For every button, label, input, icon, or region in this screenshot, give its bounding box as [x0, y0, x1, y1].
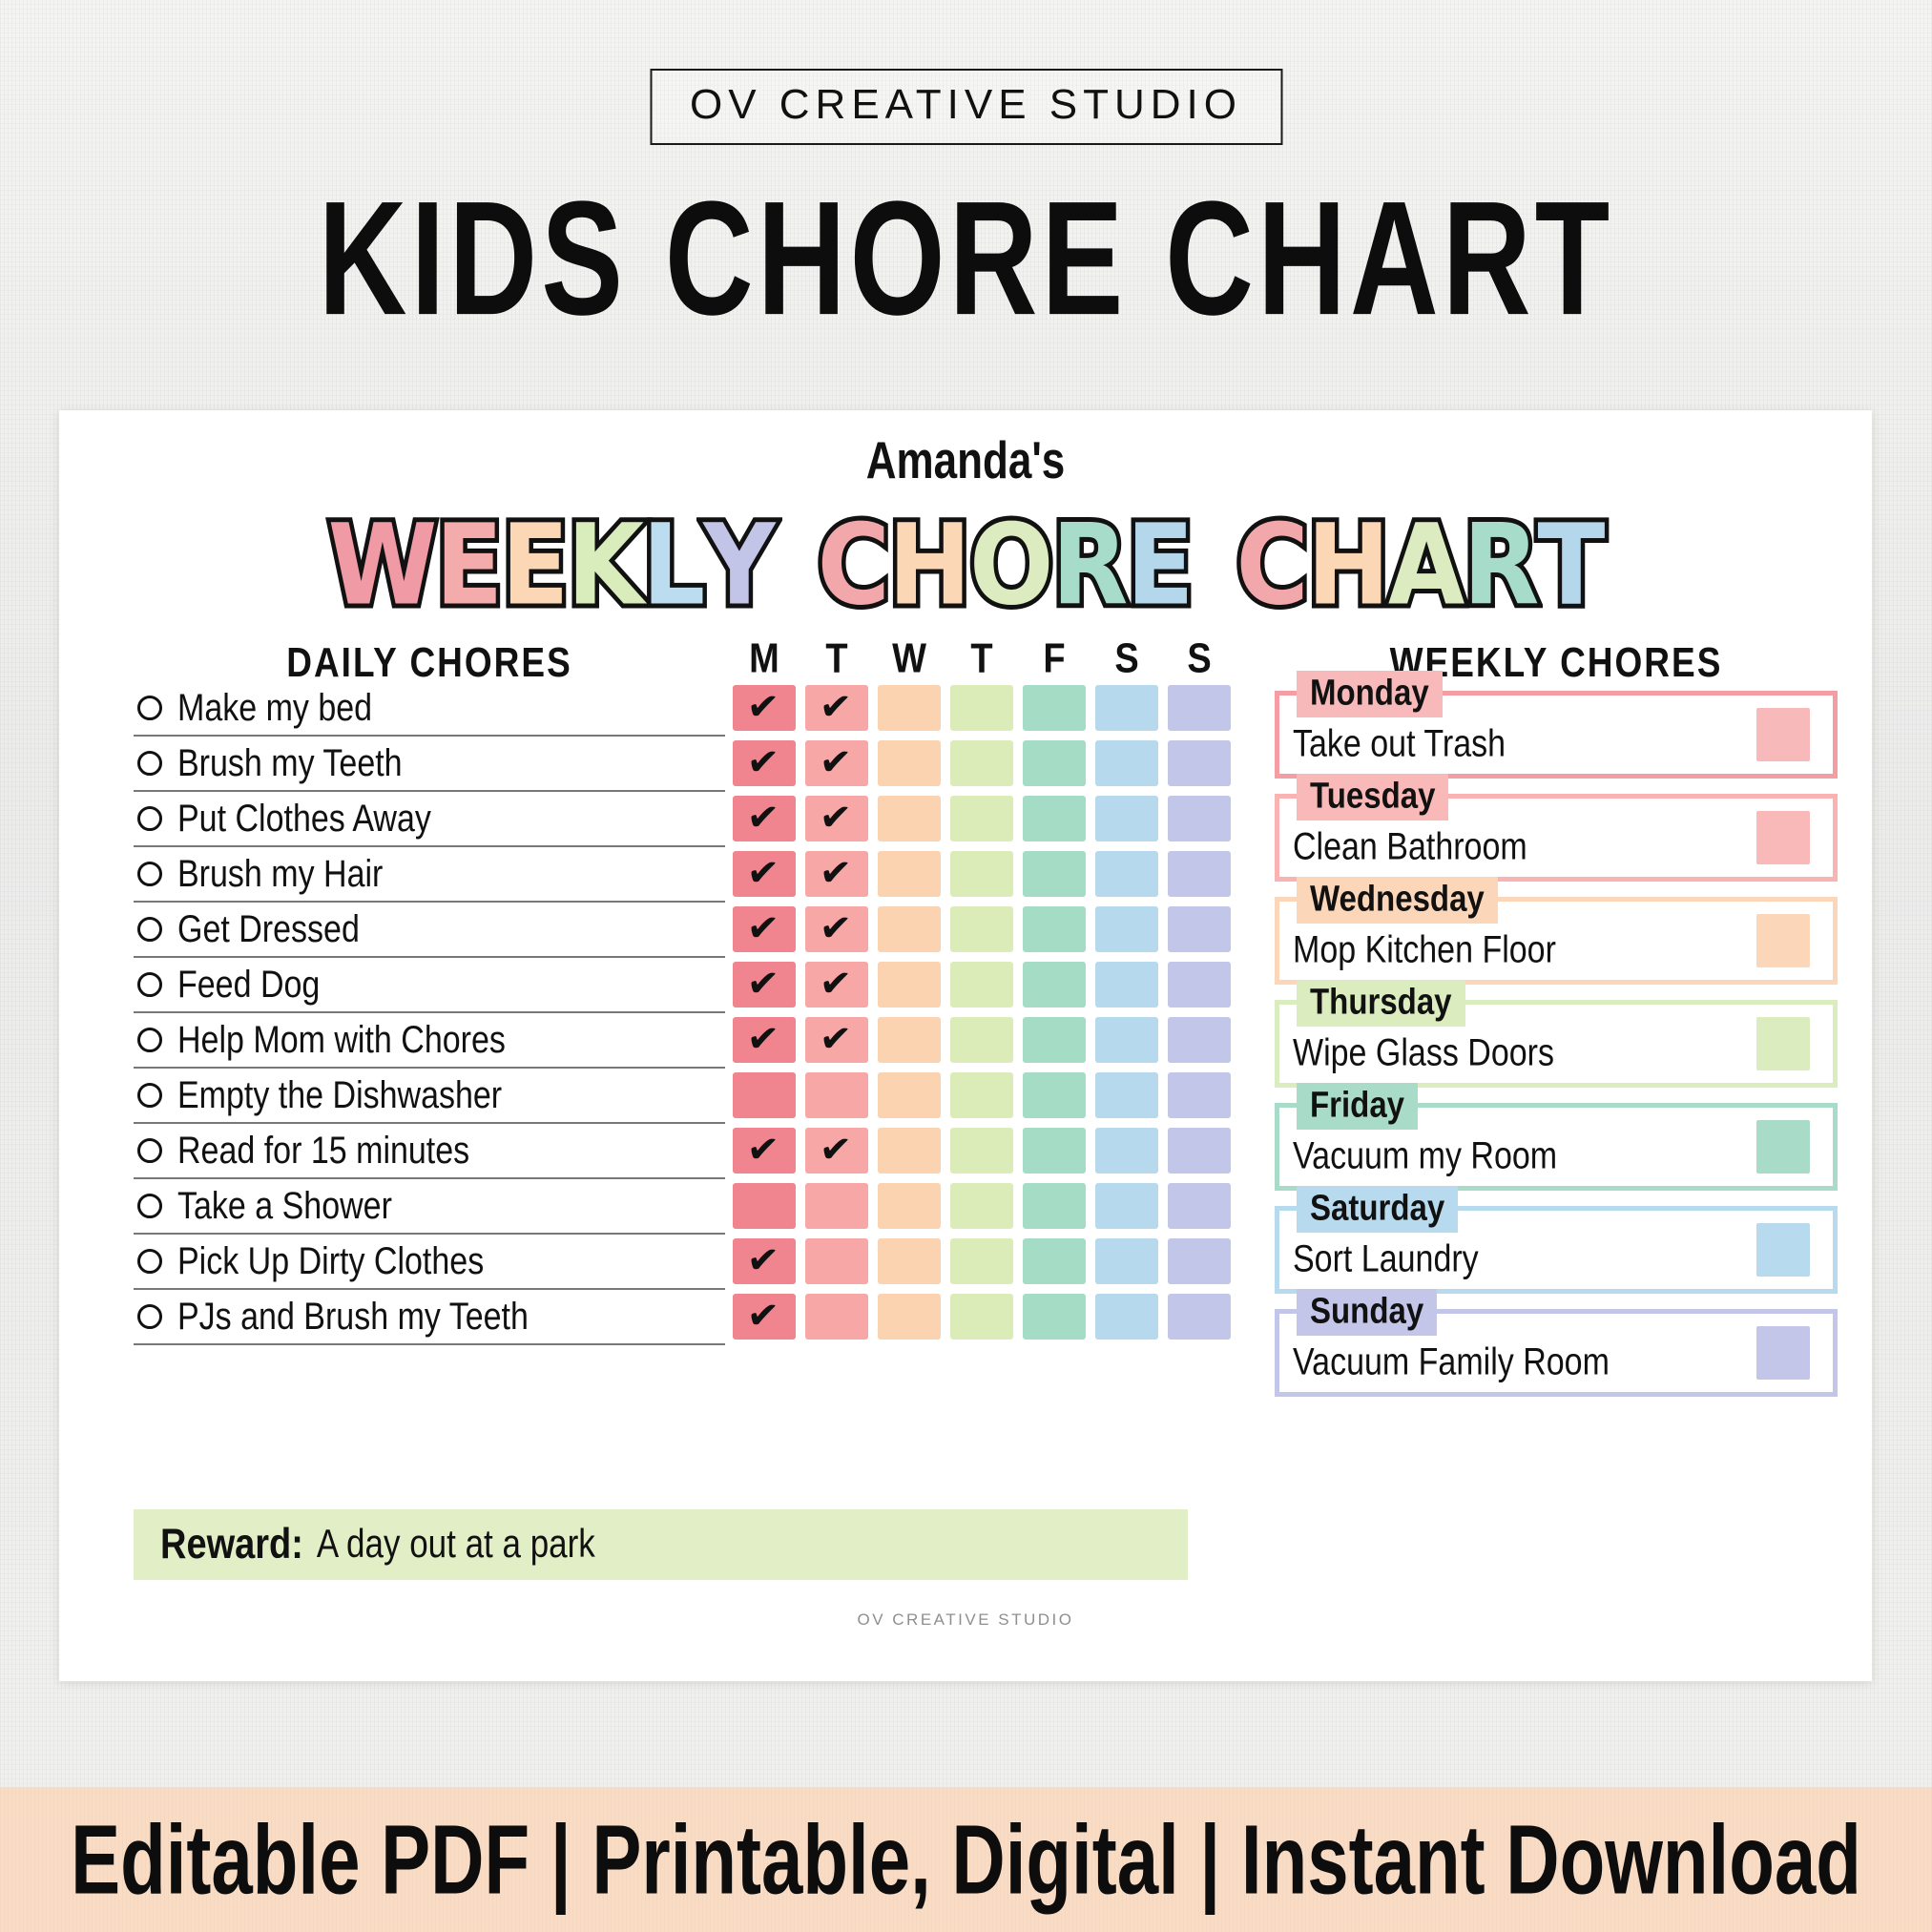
checkbox-cell[interactable] [950, 1017, 1013, 1063]
bubble-letter: R [1051, 509, 1126, 620]
daily-chore-row[interactable]: Take a Shower [134, 1179, 725, 1235]
chore-chart-sheet: Amanda's WEEKLYCHORECHART DAILY CHORES M… [59, 410, 1872, 1681]
page-headline: KIDS CHORE CHART [0, 177, 1932, 340]
brand-plate-label: OV CREATIVE STUDIO [690, 84, 1242, 126]
daily-chore-row[interactable]: Put Clothes Away [134, 792, 725, 847]
day-initial-header: F [1023, 636, 1086, 683]
weekly-task-checkbox[interactable] [1756, 1223, 1810, 1277]
check-icon: ✔ [746, 1130, 780, 1170]
check-icon: ✔ [746, 908, 780, 948]
daily-chores-heading: DAILY CHORES [134, 639, 725, 689]
checkbox-cell[interactable] [950, 685, 1013, 731]
weekly-chore-card[interactable]: MondayTake out Trash [1275, 691, 1838, 779]
checkbox-cell[interactable] [950, 1128, 1013, 1174]
checkbox-cell[interactable] [950, 962, 1013, 1008]
checkbox-cell[interactable] [878, 740, 941, 786]
checkbox-grid-row: ✔✔ [733, 680, 1248, 736]
daily-chore-label: Feed Dog [177, 963, 320, 1007]
check-icon: ✔ [746, 742, 780, 782]
checkbox-grid-row: ✔✔ [733, 846, 1248, 902]
checkbox-cell[interactable] [950, 740, 1013, 786]
checkbox-cell[interactable]: ✔ [733, 962, 796, 1008]
checkbox-cell[interactable] [1023, 851, 1086, 897]
circle-checkbox-icon[interactable] [137, 1028, 162, 1052]
checkbox-cell[interactable]: ✔ [733, 796, 796, 841]
bubble-letter: C [1236, 509, 1307, 620]
checkbox-cell[interactable] [950, 1294, 1013, 1340]
checkbox-grid-row: ✔✔ [733, 902, 1248, 957]
daily-chore-label: Brush my Teeth [177, 741, 403, 785]
checkbox-cell[interactable]: ✔ [805, 1128, 868, 1174]
checkbox-cell[interactable] [1095, 796, 1158, 841]
weekly-chore-card[interactable]: ThursdayWipe Glass Doors [1275, 1000, 1838, 1088]
checkbox-cell[interactable] [1168, 1128, 1231, 1174]
day-initial-header: M [733, 636, 796, 683]
checkbox-grid-row: ✔ [733, 1234, 1248, 1289]
checkbox-grid-row: ✔✔ [733, 791, 1248, 846]
reward-value[interactable]: A day out at a park [317, 1522, 595, 1567]
check-icon: ✔ [746, 1296, 780, 1336]
checkbox-grid: ✔✔✔✔✔✔✔✔✔✔✔✔✔✔✔✔✔✔ [733, 680, 1248, 1344]
checkbox-cell[interactable] [1095, 906, 1158, 952]
bubble-letter: Y [703, 509, 773, 620]
weekly-day-label: Friday [1297, 1083, 1418, 1130]
brand-plate: OV CREATIVE STUDIO [650, 69, 1282, 145]
check-icon: ✔ [746, 964, 780, 1004]
weekly-chore-card[interactable]: SaturdaySort Laundry [1275, 1206, 1838, 1294]
circle-checkbox-icon[interactable] [137, 751, 162, 776]
day-initial-header: W [878, 636, 941, 683]
checkbox-cell[interactable] [1168, 1294, 1231, 1340]
checkbox-cell[interactable] [1168, 685, 1231, 731]
weekly-task-label[interactable]: Mop Kitchen Floor [1293, 929, 1556, 972]
checkbox-cell[interactable] [805, 1183, 868, 1229]
checkbox-cell[interactable] [1023, 1294, 1086, 1340]
weekly-chores-list: MondayTake out TrashTuesdayClean Bathroo… [1275, 691, 1838, 1397]
checkbox-cell[interactable] [1168, 1072, 1231, 1118]
checkbox-cell[interactable]: ✔ [805, 851, 868, 897]
day-initials-row: MTWTFSS [733, 639, 1248, 680]
chart-columns: DAILY CHORES Make my bedBrush my TeethPu… [59, 639, 1872, 1397]
checkbox-cell[interactable]: ✔ [805, 796, 868, 841]
circle-checkbox-icon[interactable] [137, 1304, 162, 1329]
daily-chore-row[interactable]: PJs and Brush my Teeth [134, 1290, 725, 1345]
checkbox-cell[interactable] [878, 851, 941, 897]
checkbox-cell[interactable] [1023, 962, 1086, 1008]
bubble-letter: O [969, 509, 1051, 620]
daily-chores-column: DAILY CHORES Make my bedBrush my TeethPu… [134, 639, 725, 1397]
bubble-title: WEEKLYCHORECHART [59, 515, 1872, 614]
daily-chore-row[interactable]: Help Mom with Chores [134, 1013, 725, 1069]
bubble-letter: E [501, 509, 567, 620]
daily-chore-row[interactable]: Brush my Teeth [134, 737, 725, 792]
promo-banner-text: Editable PDF | Printable, Digital | Inst… [71, 1802, 1861, 1917]
checkbox-cell[interactable] [878, 1238, 941, 1284]
circle-checkbox-icon[interactable] [137, 1249, 162, 1274]
weekly-task-label[interactable]: Wipe Glass Doors [1293, 1032, 1554, 1075]
checkbox-cell[interactable] [1168, 1183, 1231, 1229]
check-icon: ✔ [746, 1240, 780, 1280]
checkbox-cell[interactable] [1095, 1294, 1158, 1340]
bubble-letter: W [328, 509, 436, 620]
checkbox-cell[interactable] [1168, 851, 1231, 897]
bubble-letter: C [818, 509, 888, 620]
daily-chore-label: Pick Up Dirty Clothes [177, 1239, 484, 1283]
daily-chore-row[interactable]: Read for 15 minutes [134, 1124, 725, 1179]
checkbox-cell[interactable] [950, 1183, 1013, 1229]
check-icon: ✔ [819, 908, 853, 948]
daily-chore-row[interactable]: Make my bed [134, 681, 725, 737]
weekly-task-checkbox[interactable] [1756, 708, 1810, 761]
bubble-letter: E [435, 509, 501, 620]
checkbox-cell[interactable] [1023, 1183, 1086, 1229]
weekly-chores-column: WEEKLY CHORES MondayTake out TrashTuesda… [1275, 639, 1838, 1397]
check-icon: ✔ [746, 853, 780, 893]
checkbox-grid-row: ✔ [733, 1289, 1248, 1344]
weekly-task-checkbox[interactable] [1756, 1017, 1810, 1070]
circle-checkbox-icon[interactable] [137, 696, 162, 720]
checkbox-cell[interactable] [1168, 1017, 1231, 1063]
daily-chore-row[interactable]: Pick Up Dirty Clothes [134, 1235, 725, 1290]
checkbox-cell[interactable] [1168, 796, 1231, 841]
sheet-footer-brand: OV CREATIVE STUDIO [59, 1610, 1872, 1630]
bubble-letter: E [1126, 509, 1192, 620]
weekly-day-label: Wednesday [1297, 877, 1498, 924]
weekly-task-checkbox[interactable] [1756, 1120, 1810, 1174]
checkbox-cell[interactable] [1023, 796, 1086, 841]
check-icon: ✔ [746, 687, 780, 727]
check-icon: ✔ [746, 798, 780, 838]
checkbox-cell[interactable] [1168, 740, 1231, 786]
checkbox-cell[interactable] [878, 1183, 941, 1229]
daily-chore-label: Brush my Hair [177, 852, 383, 896]
weekly-chore-card[interactable]: TuesdayClean Bathroom [1275, 794, 1838, 882]
day-initial-header: T [950, 636, 1013, 683]
checkbox-cell[interactable]: ✔ [805, 962, 868, 1008]
checkbox-cell[interactable] [733, 1072, 796, 1118]
weekly-day-label: Monday [1297, 671, 1443, 717]
checkbox-cell[interactable] [1168, 906, 1231, 952]
checkbox-cell[interactable] [1023, 1128, 1086, 1174]
weekly-day-label: Sunday [1297, 1289, 1437, 1336]
circle-checkbox-icon[interactable] [137, 862, 162, 886]
weekly-day-label: Saturday [1297, 1186, 1458, 1233]
weekly-task-checkbox[interactable] [1756, 914, 1810, 967]
weekly-day-label: Tuesday [1297, 774, 1448, 821]
weekly-task-label[interactable]: Sort Laundry [1293, 1238, 1479, 1281]
checkbox-cell[interactable] [1095, 1017, 1158, 1063]
reward-label: Reward: [160, 1521, 303, 1569]
checkbox-cell[interactable] [878, 1017, 941, 1063]
circle-checkbox-icon[interactable] [137, 806, 162, 831]
checkbox-cell[interactable]: ✔ [805, 906, 868, 952]
checkbox-grid-row [733, 1178, 1248, 1234]
checkbox-grid-row: ✔✔ [733, 957, 1248, 1012]
weekly-task-label[interactable]: Take out Trash [1293, 723, 1506, 766]
daily-chore-label: PJs and Brush my Teeth [177, 1295, 529, 1339]
weekly-task-label[interactable]: Vacuum Family Room [1293, 1341, 1610, 1384]
checkbox-cell[interactable] [1095, 1072, 1158, 1118]
checkbox-cell[interactable] [950, 906, 1013, 952]
checkbox-cell[interactable]: ✔ [733, 1128, 796, 1174]
daily-chore-row[interactable]: Empty the Dishwasher [134, 1069, 725, 1124]
checkbox-cell[interactable] [1095, 851, 1158, 897]
checkbox-cell[interactable] [1023, 740, 1086, 786]
checkbox-cell[interactable] [1095, 740, 1158, 786]
promo-banner: Editable PDF | Printable, Digital | Inst… [0, 1787, 1932, 1932]
checkbox-grid-column: MTWTFSS ✔✔✔✔✔✔✔✔✔✔✔✔✔✔✔✔✔✔ [733, 639, 1248, 1397]
checkbox-cell[interactable] [950, 1238, 1013, 1284]
check-icon: ✔ [819, 964, 853, 1004]
checkbox-cell[interactable] [805, 1238, 868, 1284]
checkbox-cell[interactable] [1168, 962, 1231, 1008]
day-initial-header: S [1168, 636, 1231, 683]
checkbox-cell[interactable] [805, 1294, 868, 1340]
checkbox-cell[interactable]: ✔ [805, 685, 868, 731]
checkbox-cell[interactable] [878, 685, 941, 731]
bubble-letter: R [1463, 509, 1537, 620]
reward-bar[interactable]: Reward: A day out at a park [134, 1509, 1188, 1580]
weekly-chore-card[interactable]: FridayVacuum my Room [1275, 1103, 1838, 1191]
checkbox-cell[interactable]: ✔ [805, 740, 868, 786]
checkbox-cell[interactable]: ✔ [733, 906, 796, 952]
checkbox-cell[interactable] [950, 1072, 1013, 1118]
weekly-task-label[interactable]: Vacuum my Room [1293, 1135, 1557, 1178]
bubble-letter: T [1537, 509, 1603, 620]
checkbox-cell[interactable] [805, 1072, 868, 1118]
checkbox-cell[interactable] [1095, 1183, 1158, 1229]
checkbox-grid-row: ✔✔ [733, 1123, 1248, 1178]
checkbox-cell[interactable]: ✔ [733, 1238, 796, 1284]
checkbox-cell[interactable]: ✔ [733, 1017, 796, 1063]
checkbox-cell[interactable] [733, 1183, 796, 1229]
checkbox-cell[interactable] [950, 796, 1013, 841]
circle-checkbox-icon[interactable] [137, 972, 162, 997]
checkbox-grid-row: ✔✔ [733, 1012, 1248, 1068]
circle-checkbox-icon[interactable] [137, 1194, 162, 1218]
checkbox-cell[interactable] [1023, 685, 1086, 731]
bubble-letter: K [567, 509, 642, 620]
day-initial-header: S [1095, 636, 1158, 683]
check-icon: ✔ [819, 853, 853, 893]
checkbox-cell[interactable]: ✔ [805, 1017, 868, 1063]
daily-chore-label: Help Mom with Chores [177, 1018, 506, 1062]
daily-chore-label: Get Dressed [177, 907, 360, 951]
weekly-chore-card[interactable]: SundayVacuum Family Room [1275, 1309, 1838, 1397]
daily-chore-row[interactable]: Feed Dog [134, 958, 725, 1013]
checkbox-cell[interactable]: ✔ [733, 740, 796, 786]
check-icon: ✔ [819, 798, 853, 838]
bubble-letter: H [1307, 509, 1388, 620]
bubble-letter: H [888, 509, 969, 620]
bubble-letter: L [642, 509, 703, 620]
weekly-chore-card[interactable]: WednesdayMop Kitchen Floor [1275, 897, 1838, 985]
checkbox-cell[interactable] [878, 1072, 941, 1118]
checkbox-cell[interactable] [1023, 1238, 1086, 1284]
daily-chore-label: Put Clothes Away [177, 797, 431, 841]
check-icon: ✔ [819, 687, 853, 727]
daily-chore-row[interactable]: Brush my Hair [134, 847, 725, 903]
checkbox-cell[interactable] [1168, 1238, 1231, 1284]
checkbox-cell[interactable] [878, 796, 941, 841]
check-icon: ✔ [746, 1019, 780, 1059]
checkbox-cell[interactable] [950, 851, 1013, 897]
checkbox-cell[interactable] [878, 1128, 941, 1174]
checkbox-grid-row [733, 1068, 1248, 1123]
weekly-task-checkbox[interactable] [1756, 1326, 1810, 1380]
checkbox-cell[interactable] [878, 1294, 941, 1340]
checkbox-cell[interactable] [1023, 906, 1086, 952]
circle-checkbox-icon[interactable] [137, 917, 162, 942]
checkbox-cell[interactable] [1095, 685, 1158, 731]
checkbox-cell[interactable]: ✔ [733, 685, 796, 731]
checkbox-cell[interactable] [1095, 962, 1158, 1008]
daily-chore-label: Make my bed [177, 686, 372, 730]
checkbox-cell[interactable]: ✔ [733, 1294, 796, 1340]
bubble-letter: A [1388, 509, 1464, 620]
day-initial-header: T [805, 636, 868, 683]
check-icon: ✔ [819, 1130, 853, 1170]
weekly-task-checkbox[interactable] [1756, 811, 1810, 864]
checkbox-grid-row: ✔✔ [733, 736, 1248, 791]
daily-chore-label: Empty the Dishwasher [177, 1073, 502, 1117]
checkbox-cell[interactable] [1023, 1072, 1086, 1118]
kid-name: Amanda's [59, 431, 1872, 491]
checkbox-cell[interactable] [1095, 1128, 1158, 1174]
checkbox-cell[interactable] [878, 962, 941, 1008]
check-icon: ✔ [819, 742, 853, 782]
checkbox-cell[interactable]: ✔ [733, 851, 796, 897]
weekly-day-label: Thursday [1297, 980, 1465, 1027]
daily-chore-row[interactable]: Get Dressed [134, 903, 725, 958]
checkbox-cell[interactable] [1095, 1238, 1158, 1284]
circle-checkbox-icon[interactable] [137, 1083, 162, 1108]
checkbox-cell[interactable] [1023, 1017, 1086, 1063]
circle-checkbox-icon[interactable] [137, 1138, 162, 1163]
check-icon: ✔ [819, 1019, 853, 1059]
daily-chore-label: Read for 15 minutes [177, 1129, 469, 1173]
daily-chores-list: Make my bedBrush my TeethPut Clothes Awa… [134, 681, 725, 1345]
checkbox-cell[interactable] [878, 906, 941, 952]
daily-chore-label: Take a Shower [177, 1184, 392, 1228]
weekly-task-label[interactable]: Clean Bathroom [1293, 826, 1527, 869]
